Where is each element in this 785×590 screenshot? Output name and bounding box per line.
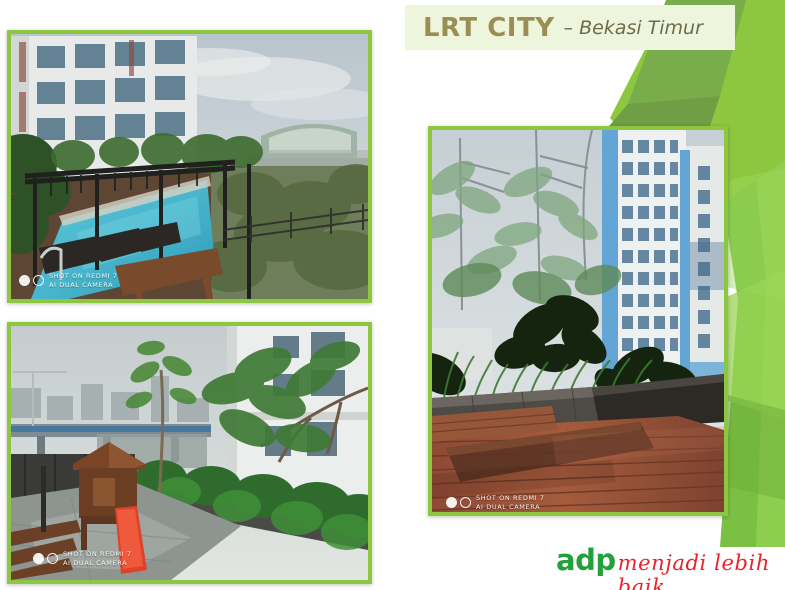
photo-deck-scene (432, 130, 724, 512)
adp-brand: adp (556, 543, 616, 577)
adp-logo: adp menjadi lebih baik (556, 543, 785, 590)
photo-playground-scene (11, 326, 368, 580)
adp-tagline: menjadi lebih baik (618, 551, 785, 590)
photo-deck[interactable]: SHOT ON REDMI 7 AI DUAL CAMERA Aryodwipu… (428, 126, 728, 516)
title-main: LRT CITY (423, 13, 555, 43)
title-separator: – (564, 17, 574, 39)
photo-pool-scene (11, 34, 368, 299)
title-subtitle: – Bekasi Timur (564, 17, 703, 39)
title-subtitle-text: Bekasi Timur (579, 17, 703, 39)
photo-playground[interactable]: SHOT ON REDMI 7 AI DUAL CAMERA (7, 322, 372, 584)
slide-title-banner: LRT CITY – Bekasi Timur (405, 5, 735, 50)
slide-canvas: LRT CITY – Bekasi Timur (0, 0, 785, 590)
photo-pool[interactable]: SHOT ON REDMI 7 AI DUAL CAMERA (7, 30, 372, 303)
